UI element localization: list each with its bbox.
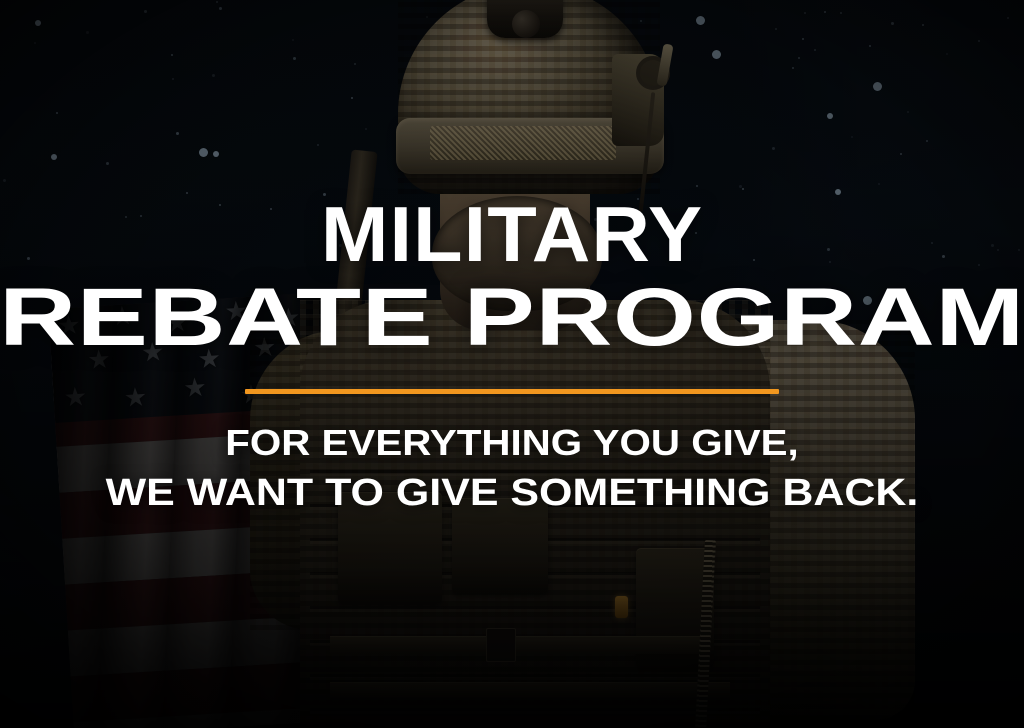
headline-line-2: REBATE PROGRAM bbox=[0, 278, 1024, 358]
subhead-line-1: FOR EVERYTHING YOU GIVE, bbox=[0, 424, 1024, 462]
military-rebate-banner: ★★★★★★★★★★★★★★ MILITARY REBATE PROG bbox=[0, 0, 1024, 728]
banner-content: MILITARY REBATE PROGRAM FOR EVERYTHING Y… bbox=[0, 0, 1024, 728]
headline-line-1: MILITARY bbox=[0, 196, 1024, 272]
accent-divider bbox=[245, 389, 779, 394]
subhead-line-2: WE WANT TO GIVE SOMETHING BACK. bbox=[0, 474, 1024, 514]
